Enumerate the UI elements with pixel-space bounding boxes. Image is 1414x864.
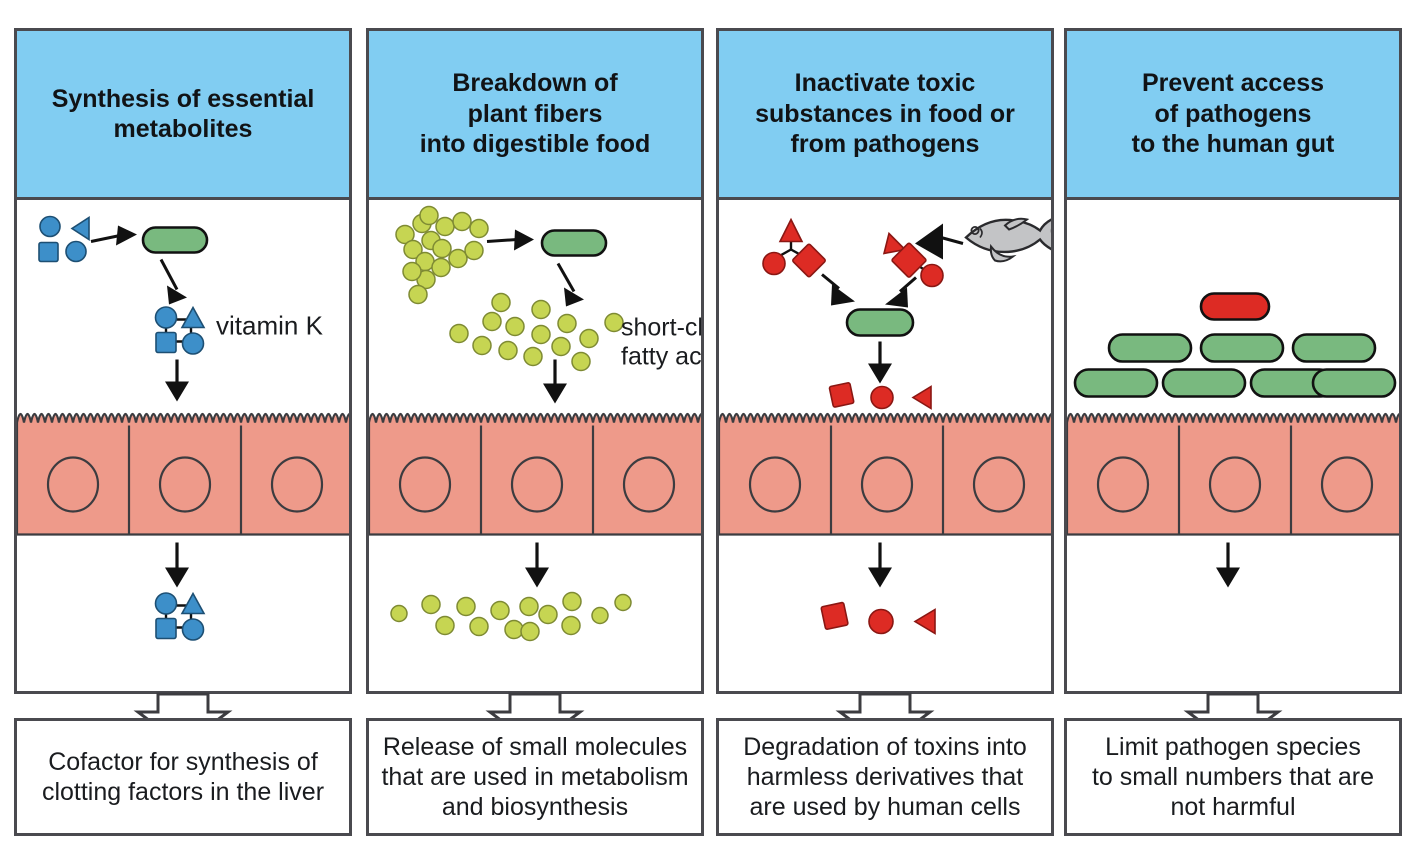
panel-fiber-breakdown: Breakdown of plant fibers into digestibl… [366, 28, 704, 836]
panel-caption: Release of small molecules that are used… [366, 718, 704, 836]
panel-header-title: Prevent access of pathogens to the human… [1124, 68, 1343, 160]
panel-header: Breakdown of plant fibers into digestibl… [366, 28, 704, 200]
fish-source-arrow [915, 224, 963, 260]
vitamin-k-label: vitamin K [216, 311, 324, 341]
panel-caption: Limit pathogen species to small numbers … [1064, 718, 1402, 836]
panel-synthesis: Synthesis of essential metabolites [14, 28, 352, 836]
fermentation-arrow [558, 264, 584, 307]
absorbed-molecules [391, 593, 631, 641]
plant-fiber-polymer [396, 207, 488, 304]
fiber-breakdown-diagram: short-chain fatty acids [369, 200, 701, 691]
scfa-label-line2: fatty acids [621, 343, 701, 371]
gut-microbiota-figure: Synthesis of essential metabolites [0, 0, 1414, 864]
bacterium [143, 228, 207, 253]
panel-header: Inactivate toxic substances in food or f… [716, 28, 1054, 200]
panel-header-title: Breakdown of plant fibers into digestibl… [412, 68, 659, 160]
panel-caption-text: Cofactor for synthesis of clotting facto… [36, 747, 330, 807]
transport-arrow-bottom [1216, 543, 1240, 588]
uptake-arrow [91, 226, 137, 246]
epithelium-layer [17, 414, 349, 535]
epithelium-layer [369, 414, 701, 535]
transport-arrow-top [543, 360, 567, 404]
pathogen-bacterium [1201, 294, 1269, 320]
fish-icon [966, 218, 1051, 262]
panel-caption: Cofactor for synthesis of clotting facto… [14, 718, 352, 836]
vitamin-k-molecule [156, 307, 205, 354]
transport-arrow-bottom [525, 543, 549, 588]
toxin-uptake-arrow-right [885, 278, 916, 308]
toxin-uptake-arrow-left [822, 275, 855, 306]
panel-caption: Degradation of toxins into harmless deri… [716, 718, 1054, 836]
panel-header: Prevent access of pathogens to the human… [1064, 28, 1402, 200]
synthesis-arrow [161, 260, 187, 305]
transport-arrow-bottom [165, 543, 189, 588]
toxin-inactivation-diagram [719, 200, 1051, 691]
panel-illustration [1064, 200, 1402, 694]
commensal-row-middle [1109, 335, 1375, 362]
panel-caption-text: Release of small molecules that are used… [375, 732, 694, 822]
epithelium-layer [1067, 414, 1399, 535]
panel-header-title: Synthesis of essential metabolites [44, 84, 323, 145]
panel-illustration: vitamin K [14, 200, 352, 694]
pathogen-exclusion-diagram [1067, 200, 1399, 691]
epithelium-layer [719, 414, 1051, 535]
panel-illustration [716, 200, 1054, 694]
substrate-molecules [39, 217, 89, 262]
scfa-label-line1: short-chain [621, 314, 701, 342]
absorbed-derivatives [821, 602, 935, 633]
synthesis-diagram: vitamin K [17, 200, 349, 691]
panel-caption-text: Limit pathogen species to small numbers … [1086, 732, 1380, 822]
degradation-arrow [868, 342, 892, 384]
degraded-products [829, 382, 931, 408]
uptake-arrow [487, 230, 534, 251]
panel-caption-text: Degradation of toxins into harmless deri… [737, 732, 1033, 822]
panel-illustration: short-chain fatty acids [366, 200, 704, 694]
panel-toxin-inactivation: Inactivate toxic substances in food or f… [716, 28, 1054, 836]
panel-pathogen-exclusion: Prevent access of pathogens to the human… [1064, 28, 1402, 836]
bacterium [847, 310, 913, 336]
panel-header-title: Inactivate toxic substances in food or f… [747, 68, 1023, 160]
scfa-molecules [450, 294, 623, 371]
panel-header: Synthesis of essential metabolites [14, 28, 352, 200]
transport-arrow-top [165, 360, 189, 402]
commensal-row-bottom [1075, 370, 1395, 397]
transport-arrow-bottom [868, 543, 892, 588]
product-molecule [156, 593, 205, 640]
bacterium [542, 231, 606, 256]
toxin-complex-left [763, 220, 826, 278]
